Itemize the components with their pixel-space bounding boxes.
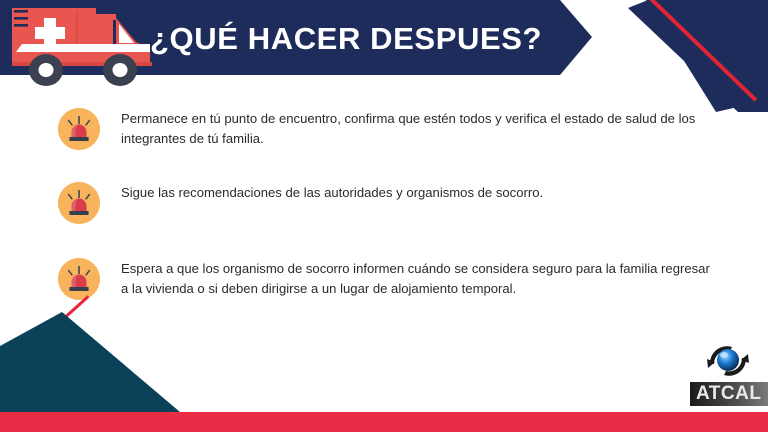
logo: ATCAL bbox=[690, 340, 768, 410]
list-item: Sigue las recomendaciones de las autorid… bbox=[58, 182, 717, 224]
list-item-text: Espera a que los organismo de socorro in… bbox=[121, 258, 717, 299]
refresh-sphere-icon bbox=[702, 340, 754, 382]
logo-wordmark: ATCAL bbox=[690, 382, 768, 406]
siren-alarm-icon bbox=[58, 182, 100, 224]
list-item: Permanece en tú punto de encuentro, conf… bbox=[58, 108, 717, 150]
page-title: ¿QUÉ HACER DESPUES? bbox=[150, 17, 570, 61]
siren-alarm-icon bbox=[58, 108, 100, 150]
list-item: Espera a que los organismo de socorro in… bbox=[58, 258, 717, 300]
list-item-text: Sigue las recomendaciones de las autorid… bbox=[121, 182, 717, 203]
list-item-text: Permanece en tú punto de encuentro, conf… bbox=[121, 108, 717, 149]
bottom-left-triangle bbox=[0, 312, 180, 412]
bottom-red-bar bbox=[0, 412, 768, 432]
ambulance-icon bbox=[4, 0, 156, 90]
slide-canvas: ¿QUÉ HACER DESPUES? bbox=[0, 0, 768, 432]
top-right-navy-shape bbox=[588, 0, 768, 112]
siren-alarm-icon bbox=[58, 258, 100, 300]
